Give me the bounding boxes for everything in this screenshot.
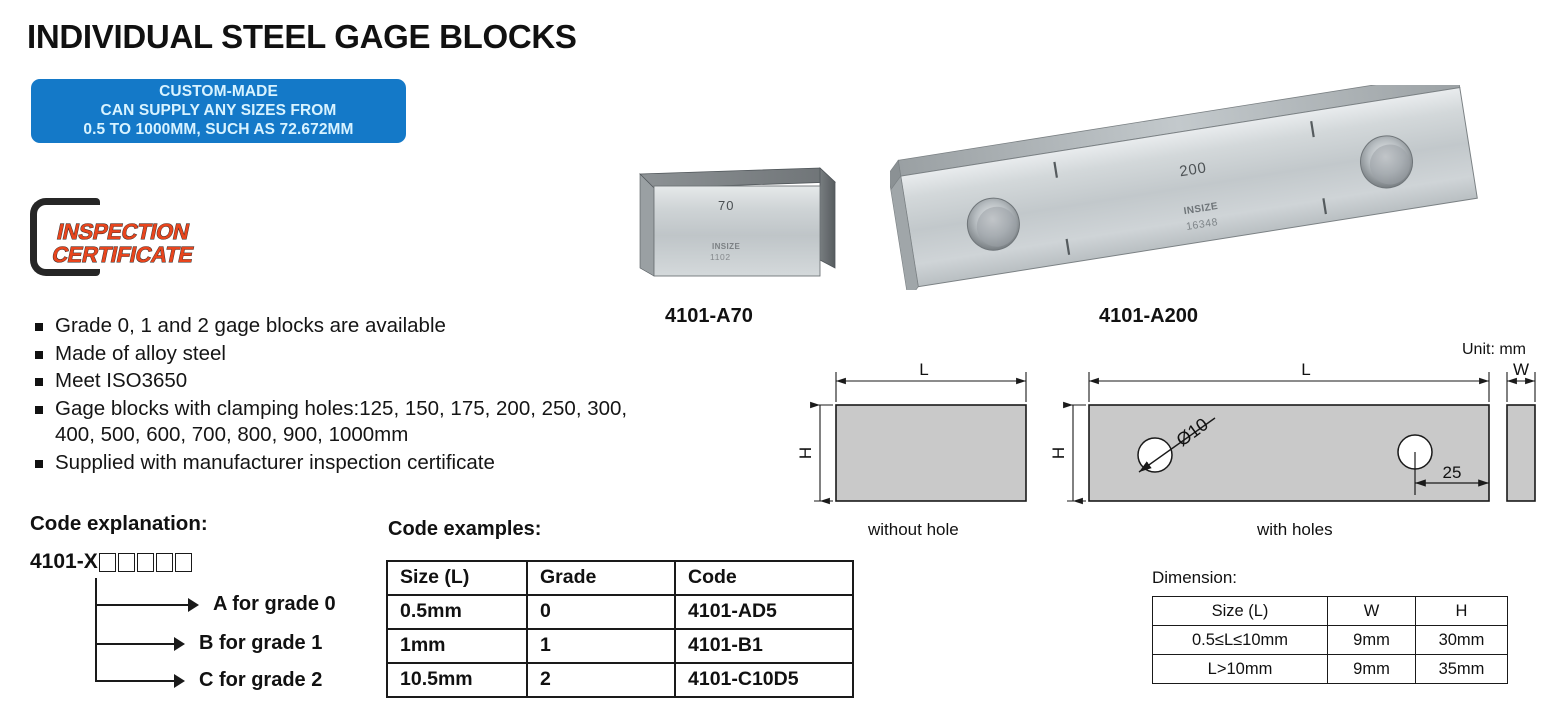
cell-size: 0.5≤L≤10mm <box>1153 626 1328 655</box>
column-header-size: Size (L) <box>1153 597 1328 626</box>
cell-height: 30mm <box>1416 626 1508 655</box>
drawing-caption-without-hole: without hole <box>868 520 959 540</box>
svg-text:W: W <box>1513 360 1529 379</box>
svg-text:L: L <box>919 360 928 379</box>
dimension-table-heading: Dimension: <box>1152 568 1237 588</box>
table-header-row: Size (L) W H <box>1153 597 1508 626</box>
svg-text:25: 25 <box>1443 463 1462 482</box>
cell-size: L>10mm <box>1153 655 1328 684</box>
column-header-height: H <box>1416 597 1508 626</box>
drawing-without-hole: L H <box>796 360 1026 501</box>
table-row: 0.5≤L≤10mm 9mm 30mm <box>1153 626 1508 655</box>
drawing-side-view-width: W <box>1507 360 1535 501</box>
svg-text:L: L <box>1301 360 1310 379</box>
cell-width: 9mm <box>1328 626 1416 655</box>
column-header-width: W <box>1328 597 1416 626</box>
cell-height: 35mm <box>1416 655 1508 684</box>
dimension-table: Size (L) W H 0.5≤L≤10mm 9mm 30mm L>10mm … <box>1152 596 1508 684</box>
drawing-with-holes: L H Ø10 25 <box>1049 360 1489 501</box>
cell-width: 9mm <box>1328 655 1416 684</box>
table-row: L>10mm 9mm 35mm <box>1153 655 1508 684</box>
svg-text:H: H <box>1049 447 1068 459</box>
svg-text:H: H <box>796 447 815 459</box>
drawing-caption-with-holes: with holes <box>1257 520 1333 540</box>
